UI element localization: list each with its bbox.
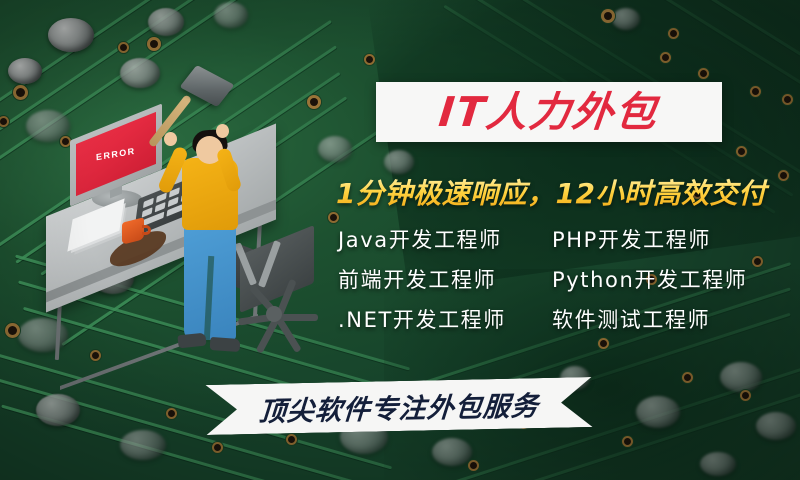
service-item: 软件测试工程师: [552, 306, 790, 334]
service-list: Java开发工程师 PHP开发工程师 前端开发工程师 Python开发工程师 .…: [338, 226, 790, 334]
poster-canvas: ERROR: [0, 0, 800, 480]
title-banner: IT人力外包: [376, 82, 722, 142]
service-item: PHP开发工程师: [552, 226, 790, 254]
subtitle-tagline: 1分钟极速响应，12小时高效交付: [336, 176, 788, 212]
ribbon-slogan: 顶尖软件专注外包服务: [258, 384, 541, 429]
service-item: Python开发工程师: [552, 266, 790, 294]
page-title: IT人力外包: [437, 92, 661, 133]
service-item: 前端开发工程师: [338, 266, 538, 294]
bottom-ribbon-banner: 顶尖软件专注外包服务: [206, 377, 593, 435]
service-item: .NET开发工程师: [338, 306, 538, 334]
service-item: Java开发工程师: [338, 226, 538, 254]
